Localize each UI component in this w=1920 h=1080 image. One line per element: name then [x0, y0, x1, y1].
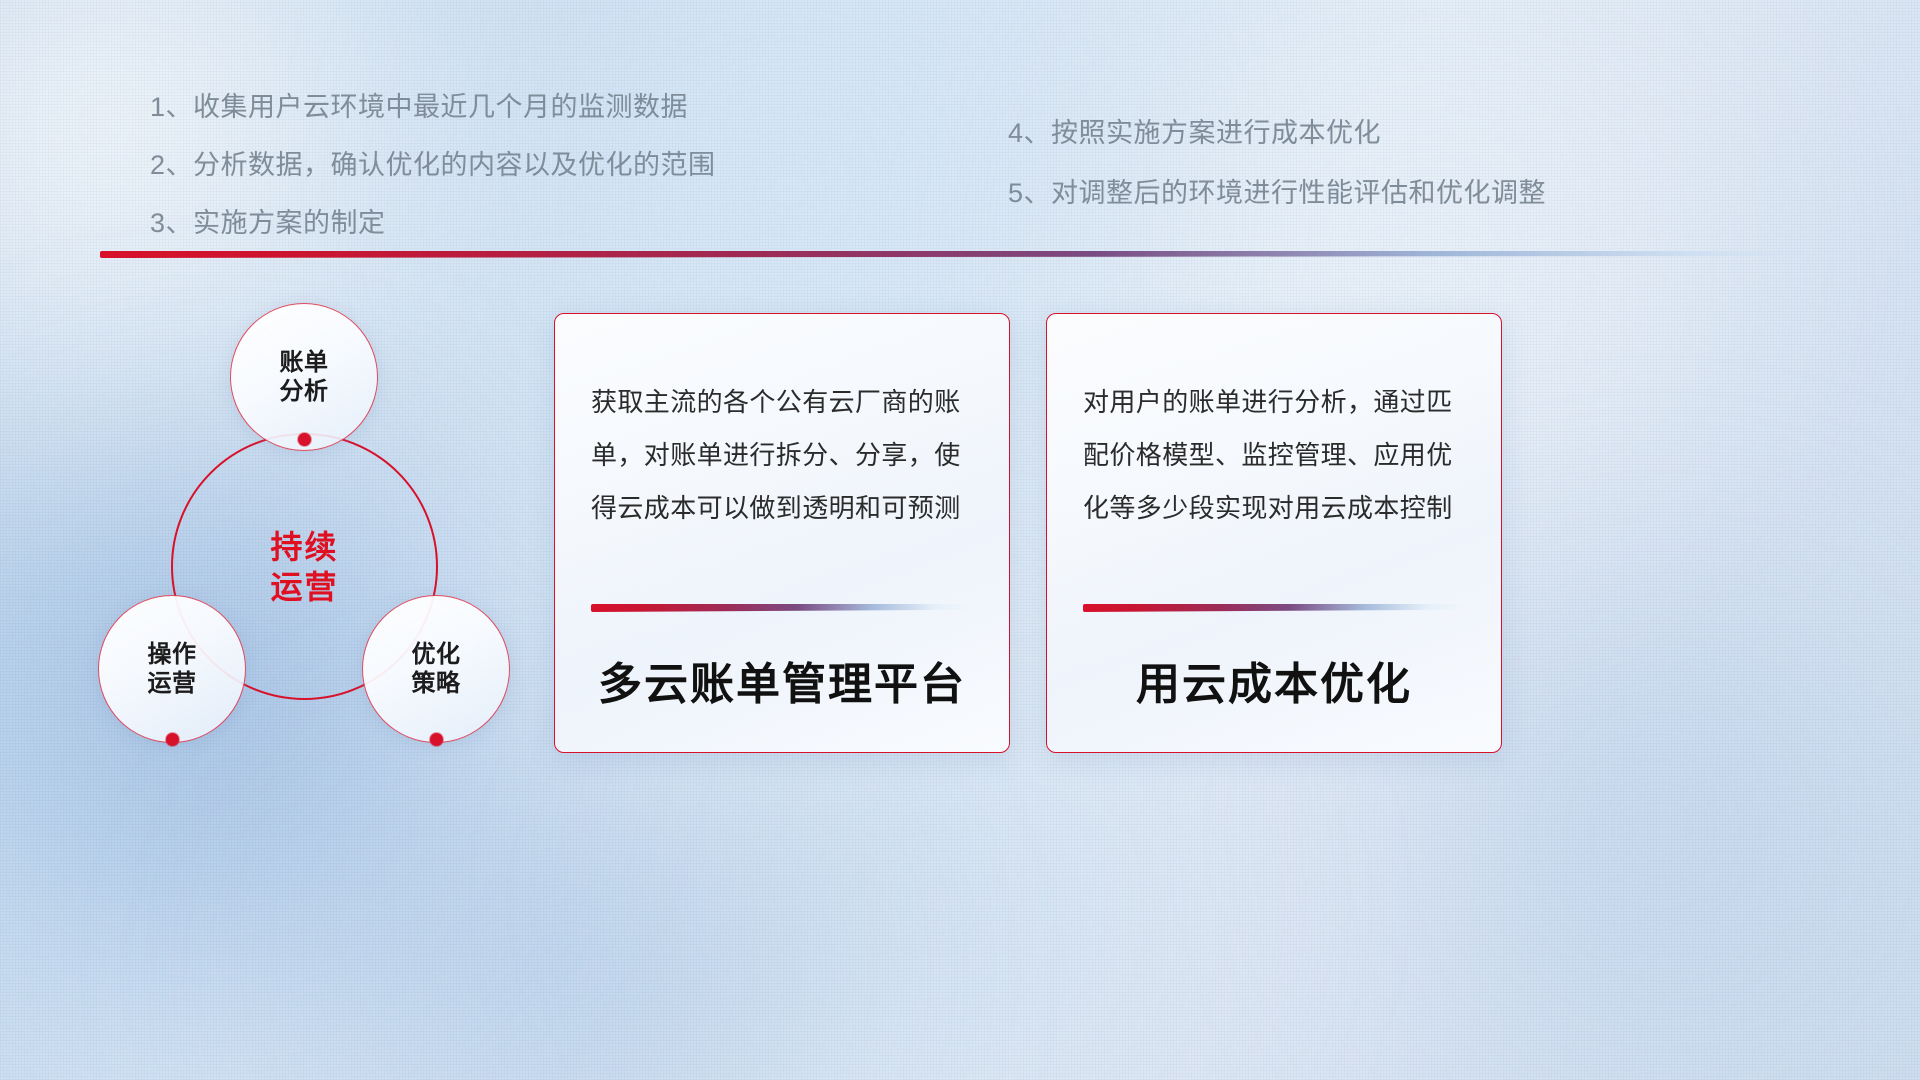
diagram-connector-dot-left — [166, 733, 179, 746]
steps-column-right: 4、按照实施方案进行成本优化 5、对调整后的环境进行性能评估和优化调整 — [1008, 120, 1546, 240]
diagram-node-bill-analysis[interactable]: 账单 分析 — [230, 303, 378, 451]
step-item-1: 1、收集用户云环境中最近几个月的监测数据 — [150, 94, 716, 121]
node-label-optimization-strategy: 优化 策略 — [412, 640, 461, 699]
diagram-connector-dot-right — [430, 733, 443, 746]
card-1-title: 多云账单管理平台 — [591, 612, 973, 752]
node-top-line1: 账单 — [280, 348, 329, 377]
node-label-operations: 操作 运营 — [148, 640, 197, 699]
cycle-diagram: 持续 运营 账单 分析 操作 运营 优化 策略 — [85, 290, 535, 760]
node-top-line2: 分析 — [280, 377, 329, 406]
center-label-line1: 持续 — [270, 527, 338, 567]
card-2-body: 对用户的账单进行分析，通过匹配价格模型、监控管理、应用优化等多少段实现对用云成本… — [1083, 376, 1465, 535]
step-item-5: 5、对调整后的环境进行性能评估和优化调整 — [1008, 180, 1546, 207]
diagram-connector-dot-top — [298, 433, 311, 446]
card-2-title: 用云成本优化 — [1083, 612, 1465, 752]
node-left-line1: 操作 — [148, 640, 197, 669]
diagram-node-optimization-strategy[interactable]: 优化 策略 — [362, 595, 510, 743]
node-left-line2: 运营 — [148, 669, 197, 698]
center-label-line2: 运营 — [270, 567, 338, 607]
card-2-divider — [1083, 604, 1465, 612]
info-card-cloud-cost-optimization[interactable]: 对用户的账单进行分析，通过匹配价格模型、监控管理、应用优化等多少段实现对用云成本… — [1046, 313, 1502, 753]
node-right-line2: 策略 — [412, 669, 461, 698]
info-card-multicloud-billing[interactable]: 获取主流的各个公有云厂商的账单，对账单进行拆分、分享，使得云成本可以做到透明和可… — [554, 313, 1010, 753]
node-label-bill-analysis: 账单 分析 — [280, 348, 329, 407]
node-right-line1: 优化 — [412, 640, 461, 669]
diagram-node-operations[interactable]: 操作 运营 — [98, 595, 246, 743]
steps-list: 1、收集用户云环境中最近几个月的监测数据 2、分析数据，确认优化的内容以及优化的… — [0, 0, 1920, 250]
step-item-2: 2、分析数据，确认优化的内容以及优化的范围 — [150, 152, 716, 179]
card-1-divider — [591, 604, 973, 612]
step-item-3: 3、实施方案的制定 — [150, 210, 716, 237]
steps-column-left: 1、收集用户云环境中最近几个月的监测数据 2、分析数据，确认优化的内容以及优化的… — [150, 94, 716, 268]
card-1-body: 获取主流的各个公有云厂商的账单，对账单进行拆分、分享，使得云成本可以做到透明和可… — [591, 376, 973, 535]
step-item-4: 4、按照实施方案进行成本优化 — [1008, 120, 1546, 147]
